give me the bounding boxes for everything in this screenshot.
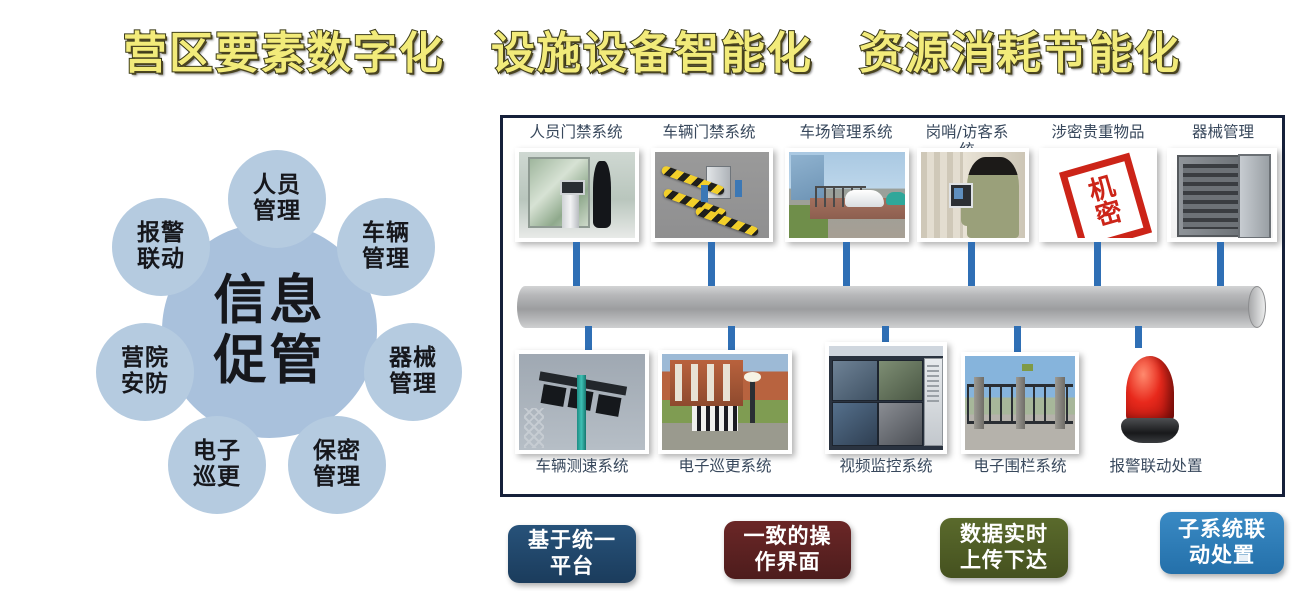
alarm-beacon-photo — [1098, 348, 1202, 454]
integration-bus-bar — [517, 286, 1265, 328]
connector-stem — [843, 242, 850, 286]
feature-box-line-2: 动处置 — [1189, 543, 1255, 569]
connector-stem — [1014, 326, 1021, 354]
confidential-stamp-photo: 机 密 — [1039, 148, 1157, 242]
connector-stem — [968, 242, 975, 286]
connector-stem — [573, 242, 580, 286]
satellite-circle-campus-security[interactable]: 营院 安防 — [96, 323, 194, 421]
feature-box-line-2: 上传下达 — [960, 548, 1048, 574]
satellite-label-line-2: 管理 — [362, 247, 410, 273]
satellite-label-line-1: 车辆 — [362, 221, 410, 247]
satellite-label-line-2: 安防 — [121, 372, 169, 398]
satellite-label-line-2: 联动 — [137, 247, 185, 273]
feature-box-line-1: 一致的操 — [744, 524, 832, 550]
feature-box-line-2: 作界面 — [755, 550, 821, 576]
satellite-label-line-2: 巡更 — [193, 465, 241, 491]
guard-visitor-terminal-photo — [917, 148, 1029, 242]
speed-camera-gantry-photo — [515, 350, 649, 454]
system-label-confidential-valuables: 涉密贵重物品 — [1033, 124, 1163, 142]
circle-diagram: 信息 促管 人员 管理 车辆 管理 器械 管理 保密 管理 电子 巡更 营院 安… — [92, 138, 492, 528]
system-label-parking-management: 车场管理系统 — [781, 124, 911, 142]
system-label-personnel-access: 人员门禁系统 — [511, 124, 641, 142]
connector-stem — [1094, 242, 1101, 286]
system-label-vehicle-access: 车辆门禁系统 — [644, 124, 774, 142]
door-access-terminal-photo — [515, 148, 639, 242]
systems-panel: 人员门禁系统 车辆门禁系统 车场管理系统 — [500, 115, 1285, 497]
satellite-circle-personnel-management[interactable]: 人员 管理 — [228, 150, 326, 248]
satellite-circle-vehicle-management[interactable]: 车辆 管理 — [337, 198, 435, 296]
feature-box-line-1: 子系统联 — [1178, 517, 1266, 543]
systems-bottom-row: 车辆测速系统 电子巡更系统 视频监控系统 — [503, 332, 1282, 496]
systems-top-row: 人员门禁系统 车辆门禁系统 车场管理系统 — [503, 120, 1282, 270]
bus-end-cap — [1248, 286, 1266, 328]
stamp-char-2: 密 — [1094, 198, 1126, 230]
page-title-segment-3: 资源消耗节能化 — [859, 17, 1181, 81]
feature-box-realtime-data[interactable]: 数据实时 上传下达 — [940, 518, 1068, 578]
satellite-label-line-1: 人员 — [253, 173, 301, 199]
satellite-circle-confidentiality-management[interactable]: 保密 管理 — [288, 416, 386, 514]
system-label-electronic-patrol: 电子巡更系统 — [660, 458, 790, 476]
satellite-circle-alarm-linkage[interactable]: 报警 联动 — [112, 198, 210, 296]
satellite-circle-equipment-management[interactable]: 器械 管理 — [364, 323, 462, 421]
page-title-segment-1: 营区要素数字化 — [123, 17, 445, 81]
feature-box-line-2: 平台 — [550, 554, 594, 580]
electronic-fence-photo — [961, 352, 1079, 454]
feature-box-line-1: 数据实时 — [960, 522, 1048, 548]
system-label-equipment-management: 器械管理 — [1169, 124, 1277, 142]
satellite-circle-electronic-patrol[interactable]: 电子 巡更 — [168, 416, 266, 514]
satellite-label-line-2: 管理 — [313, 465, 361, 491]
feature-box-consistent-ui[interactable]: 一致的操 作界面 — [724, 521, 851, 579]
satellite-label-line-1: 器械 — [389, 346, 437, 372]
vehicle-barrier-gate-photo — [651, 148, 773, 242]
center-circle-line-1: 信息 — [214, 271, 326, 330]
satellite-label-line-2: 管理 — [389, 372, 437, 398]
satellite-label-line-2: 管理 — [253, 199, 301, 225]
satellite-label-line-1: 报警 — [137, 221, 185, 247]
weapon-cabinet-photo — [1167, 148, 1277, 242]
center-circle-line-2: 促管 — [214, 331, 326, 390]
page-title-bar: 营区要素数字化 设施设备智能化 资源消耗节能化 — [0, 14, 1304, 84]
satellite-label-line-1: 营院 — [121, 346, 169, 372]
patrol-marching-photo — [658, 350, 792, 454]
feature-box-line-1: 基于统一 — [528, 528, 616, 554]
system-label-alarm-linkage: 报警联动处置 — [1091, 458, 1221, 476]
system-label-vehicle-speed: 车辆测速系统 — [517, 458, 647, 476]
satellite-label-line-1: 保密 — [313, 439, 361, 465]
system-label-video-surveillance: 视频监控系统 — [821, 458, 951, 476]
connector-stem — [1217, 242, 1224, 286]
system-label-electronic-fence: 电子围栏系统 — [955, 458, 1085, 476]
connector-stem — [708, 242, 715, 286]
feature-box-subsystem-linkage[interactable]: 子系统联 动处置 — [1160, 512, 1284, 574]
page-title-segment-2: 设施设备智能化 — [491, 17, 813, 81]
feature-box-unified-platform[interactable]: 基于统一 平台 — [508, 525, 636, 583]
satellite-label-line-1: 电子 — [193, 439, 241, 465]
video-surveillance-wall-photo — [825, 342, 947, 454]
parking-lot-photo — [785, 148, 909, 242]
